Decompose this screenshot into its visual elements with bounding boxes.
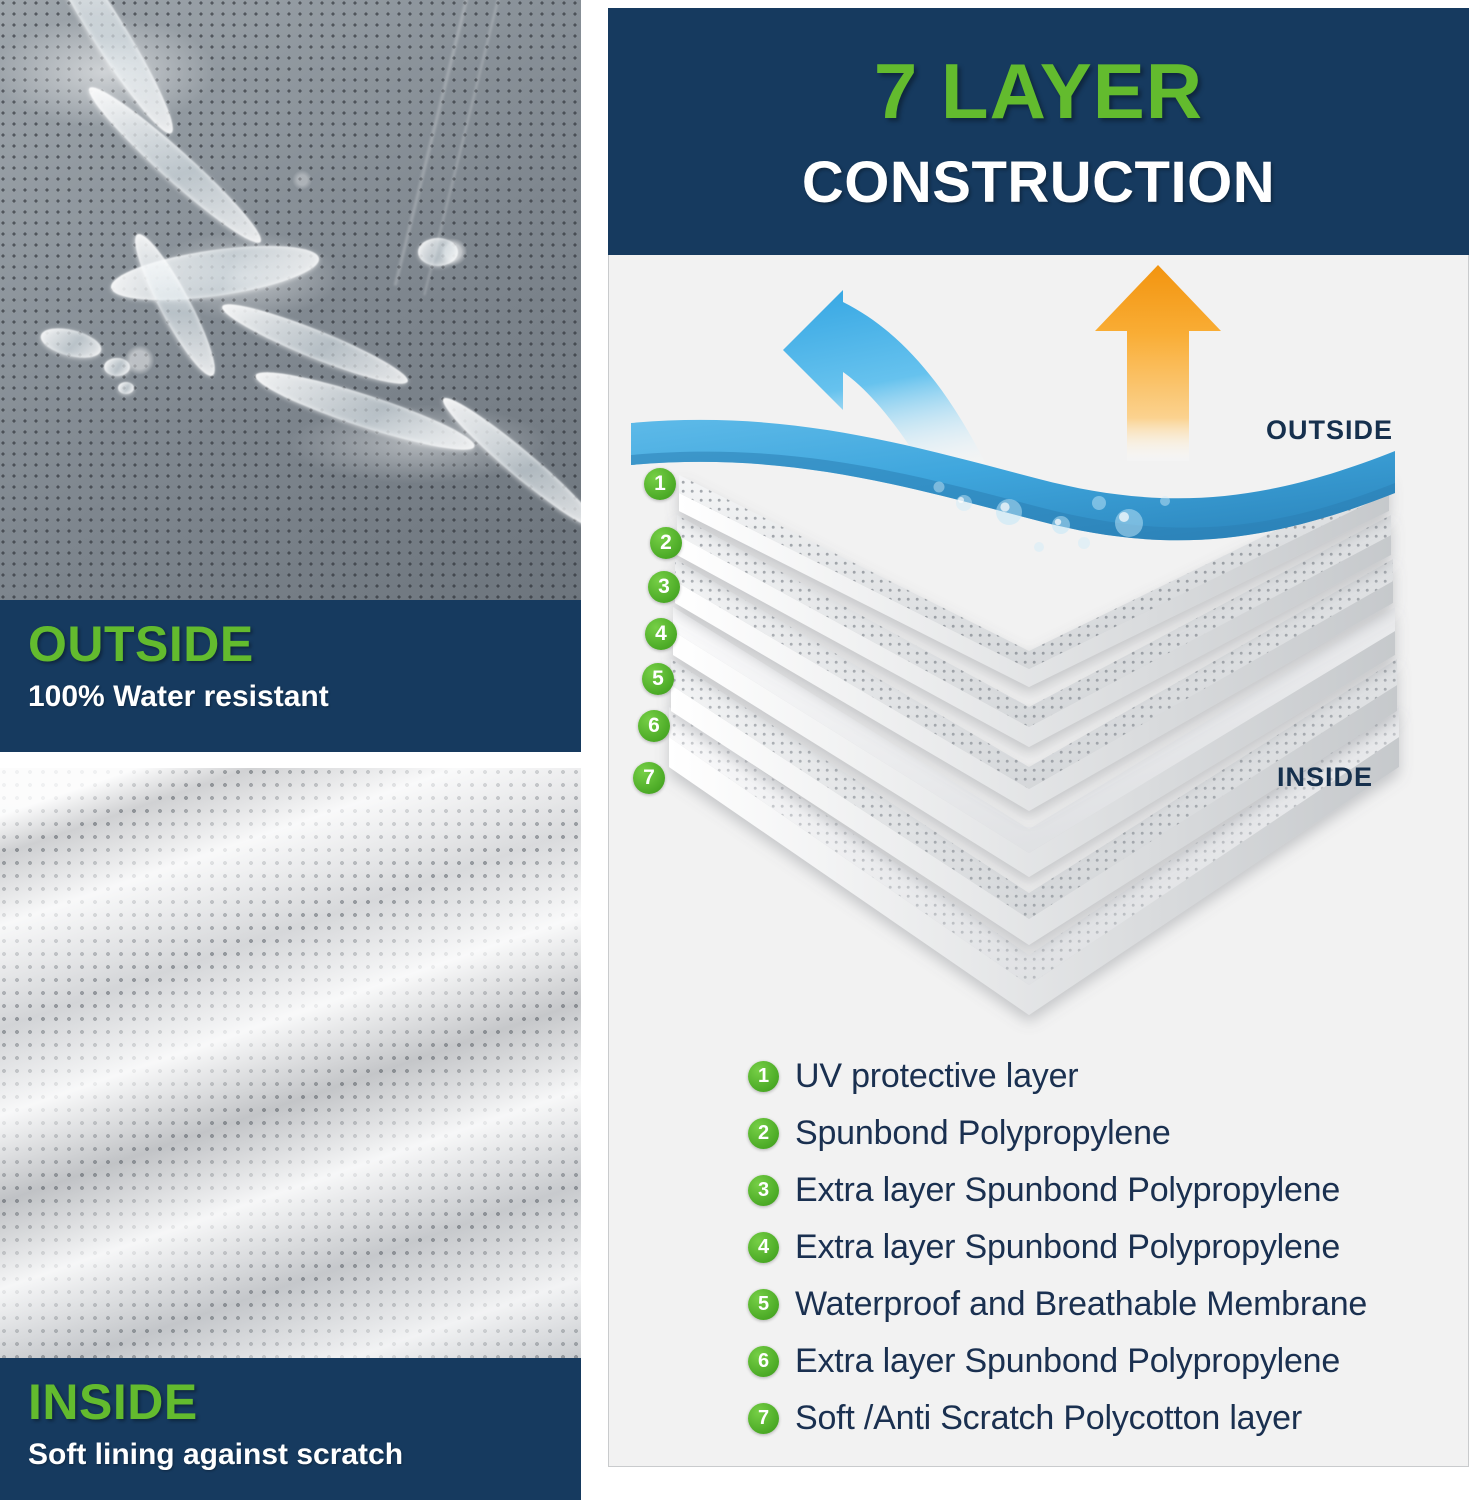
list-item: 3 Extra layer Spunbond Polypropylene — [748, 1162, 1448, 1219]
outside-fabric-photo — [0, 0, 581, 600]
inside-caption: INSIDE Soft lining against scratch — [0, 1358, 581, 1500]
stack-badge-4: 4 — [645, 618, 677, 650]
stack-badge-7: 7 — [633, 762, 665, 794]
layer-legend-list: 1 UV protective layer 2 Spunbond Polypro… — [748, 1048, 1448, 1447]
list-item: 4 Extra layer Spunbond Polypropylene — [748, 1219, 1448, 1276]
list-badge-7: 7 — [748, 1403, 779, 1434]
panel-header: 7 LAYER CONSTRUCTION — [608, 8, 1469, 255]
list-item: 2 Spunbond Polypropylene — [748, 1105, 1448, 1162]
list-item: 7 Soft /Anti Scratch Polycotton layer — [748, 1390, 1448, 1447]
stack-badge-5: 5 — [642, 663, 674, 695]
list-item: 5 Waterproof and Breathable Membrane — [748, 1276, 1448, 1333]
list-badge-3: 3 — [748, 1175, 779, 1206]
list-badge-1: 1 — [748, 1061, 779, 1092]
stack-badge-6: 6 — [638, 710, 670, 742]
list-item: 1 UV protective layer — [748, 1048, 1448, 1105]
list-label-4: Extra layer Spunbond Polypropylene — [795, 1228, 1340, 1267]
infographic-page: OUTSIDE 100% Water resistant INSIDE Soft… — [0, 0, 1477, 1500]
list-label-2: Spunbond Polypropylene — [795, 1114, 1171, 1153]
list-badge-6: 6 — [748, 1346, 779, 1377]
inside-photo-block: INSIDE Soft lining against scratch — [0, 768, 581, 1500]
diagram-label-outside: OUTSIDE — [1266, 415, 1393, 446]
list-label-1: UV protective layer — [795, 1057, 1078, 1096]
header-title-sub: CONSTRUCTION — [802, 154, 1275, 212]
outside-caption-title: OUTSIDE — [28, 618, 581, 671]
inside-fabric-photo — [0, 768, 581, 1358]
inside-caption-subtitle: Soft lining against scratch — [28, 1435, 581, 1474]
outside-caption: OUTSIDE 100% Water resistant — [0, 600, 581, 752]
left-photo-column: OUTSIDE 100% Water resistant INSIDE Soft… — [0, 0, 581, 1500]
outside-caption-subtitle: 100% Water resistant — [28, 677, 581, 716]
stack-badge-2: 2 — [650, 527, 682, 559]
list-label-5: Waterproof and Breathable Membrane — [795, 1285, 1367, 1324]
list-badge-4: 4 — [748, 1232, 779, 1263]
header-title-main: 7 LAYER — [874, 52, 1203, 130]
diagram-label-inside: INSIDE — [1277, 762, 1373, 793]
list-item: 6 Extra layer Spunbond Polypropylene — [748, 1333, 1448, 1390]
stack-badge-1: 1 — [644, 468, 676, 500]
list-badge-5: 5 — [748, 1289, 779, 1320]
list-badge-2: 2 — [748, 1118, 779, 1149]
list-label-3: Extra layer Spunbond Polypropylene — [795, 1171, 1340, 1210]
stack-badge-3: 3 — [648, 571, 680, 603]
layer-stack-diagram: 1 2 3 4 5 6 7 OUTSIDE INSIDE — [609, 255, 1468, 1045]
layer-sheets — [609, 255, 1468, 1045]
list-label-7: Soft /Anti Scratch Polycotton layer — [795, 1399, 1302, 1438]
outside-photo-block: OUTSIDE 100% Water resistant — [0, 0, 581, 752]
list-label-6: Extra layer Spunbond Polypropylene — [795, 1342, 1340, 1381]
inside-caption-title: INSIDE — [28, 1376, 581, 1429]
